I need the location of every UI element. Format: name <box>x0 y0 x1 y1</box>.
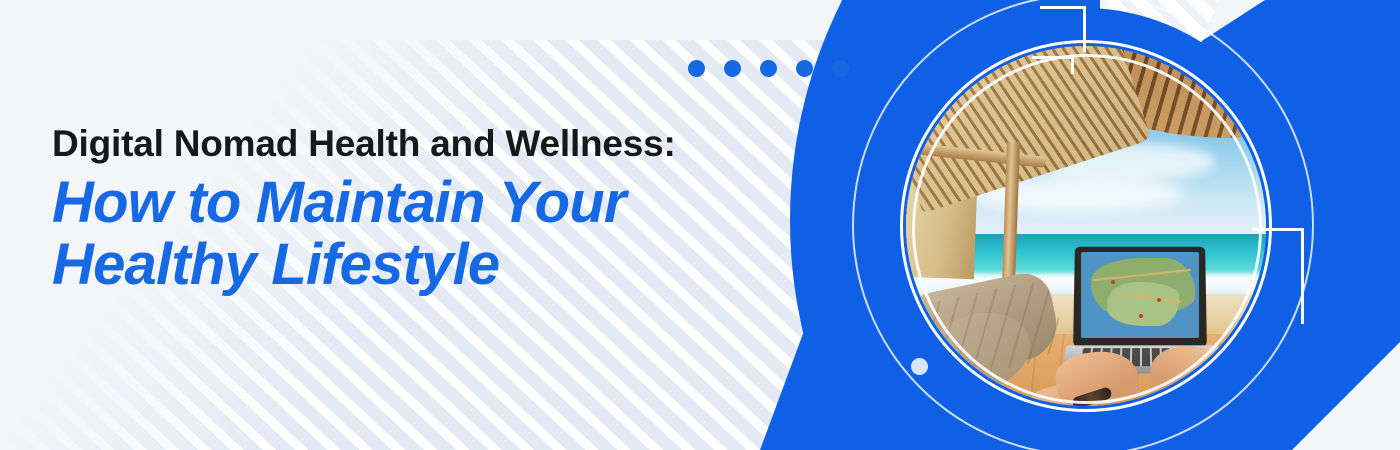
corner-bracket-right-icon <box>1252 228 1304 324</box>
dot-3 <box>760 60 777 77</box>
dot-5 <box>832 60 849 77</box>
white-ring-inner <box>912 54 1262 404</box>
decorative-dots-row <box>688 60 849 77</box>
corner-bracket-mid-icon <box>1032 56 1074 74</box>
headline-title: How to Maintain Your Healthy Lifestyle <box>52 172 812 297</box>
corner-bracket-top-icon <box>1040 6 1086 52</box>
dot-2 <box>724 60 741 77</box>
dot-4 <box>796 60 813 77</box>
banner-hero: Digital Nomad Health and Wellness: How t… <box>0 0 1400 450</box>
dot-1 <box>688 60 705 77</box>
headline-subtitle: Digital Nomad Health and Wellness: <box>52 122 812 166</box>
headline-block: Digital Nomad Health and Wellness: How t… <box>52 122 812 297</box>
arc-node-dot <box>911 358 928 375</box>
